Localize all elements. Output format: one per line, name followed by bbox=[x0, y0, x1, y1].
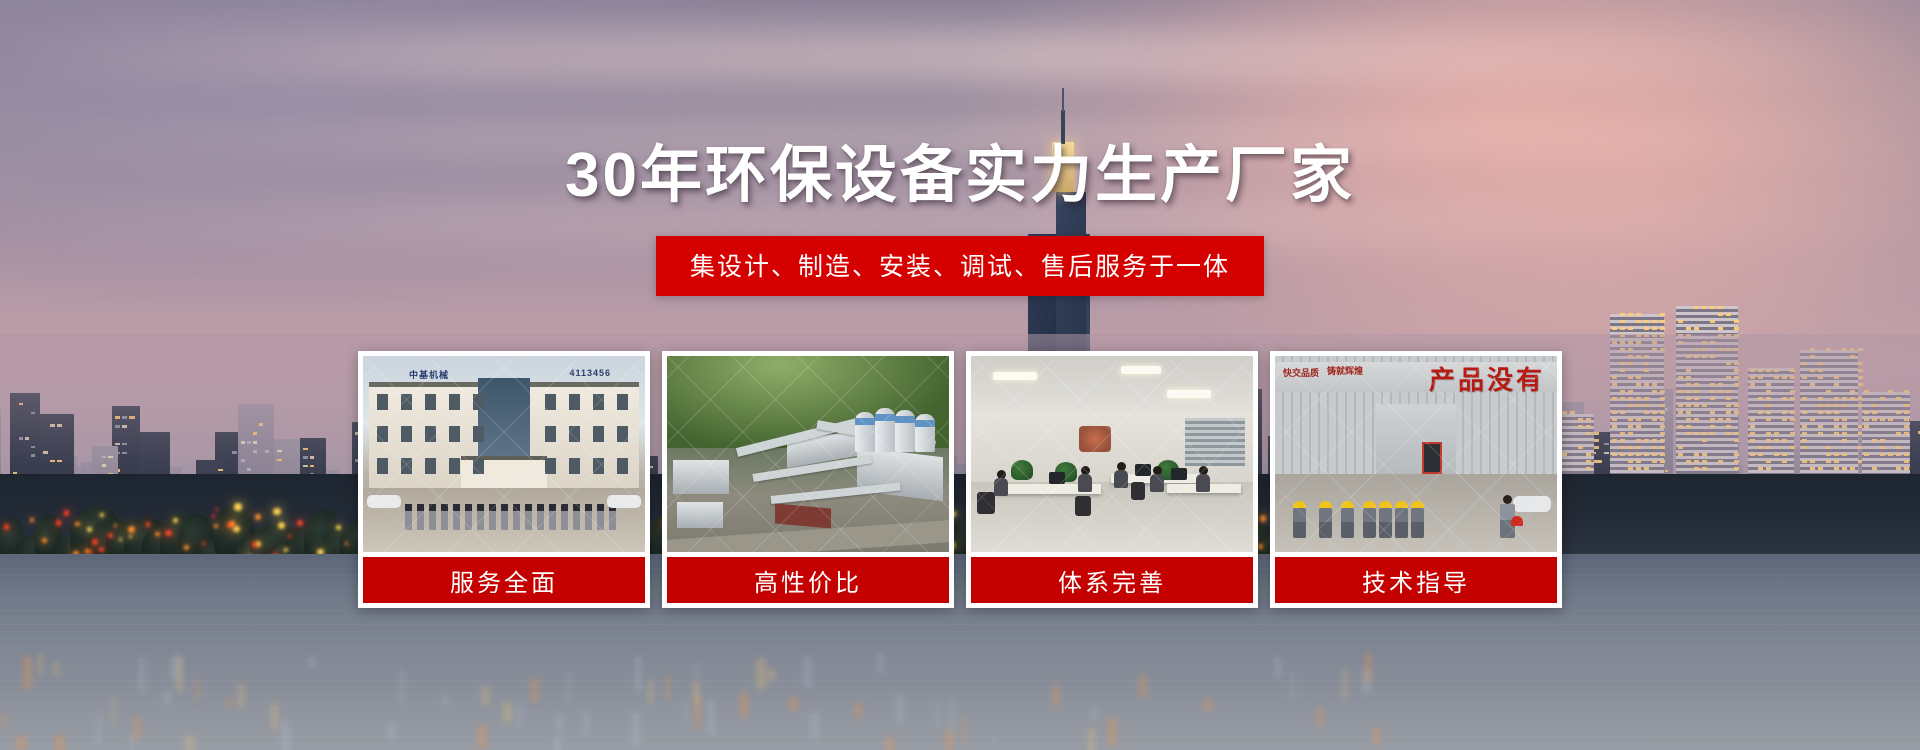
card-caption: 技术指导 bbox=[1275, 557, 1557, 603]
feature-card[interactable]: 体系完善 bbox=[966, 351, 1258, 608]
cloud-band bbox=[0, 28, 1920, 84]
card-caption: 高性价比 bbox=[667, 557, 949, 603]
building-signage: 中基机械 bbox=[409, 368, 449, 381]
feature-card[interactable]: 中基机械 4113456 服务全面 bbox=[358, 351, 650, 608]
subtitle-banner: 集设计、制造、安装、调试、售后服务于一体 bbox=[656, 236, 1264, 296]
feature-card[interactable]: 高性价比 bbox=[662, 351, 954, 608]
card-caption: 体系完善 bbox=[971, 557, 1253, 603]
card-thumbnail-plant bbox=[667, 356, 949, 552]
feature-card-list: 中基机械 4113456 服务全面 bbox=[358, 351, 1562, 608]
card-caption: 服务全面 bbox=[363, 557, 645, 603]
feature-card[interactable]: 产品没有 快交品质 铸就辉煌 技术指导 bbox=[1270, 351, 1562, 608]
factory-wall-text: 产品没有 bbox=[1429, 360, 1545, 397]
factory-wall-slogan-2: 铸就辉煌 bbox=[1327, 366, 1363, 377]
card-thumbnail-workers: 产品没有 快交品质 铸就辉煌 bbox=[1275, 356, 1557, 552]
building-phone: 4113456 bbox=[569, 368, 611, 378]
factory-wall-slogan-1: 快交品质 bbox=[1283, 368, 1319, 379]
page-title: 30年环保设备实力生产厂家 bbox=[0, 124, 1920, 214]
card-thumbnail-headquarters: 中基机械 4113456 bbox=[363, 356, 645, 552]
card-thumbnail-office bbox=[971, 356, 1253, 552]
hero-banner: 30年环保设备实力生产厂家 集设计、制造、安装、调试、售后服务于一体 中基机械 … bbox=[0, 0, 1920, 750]
